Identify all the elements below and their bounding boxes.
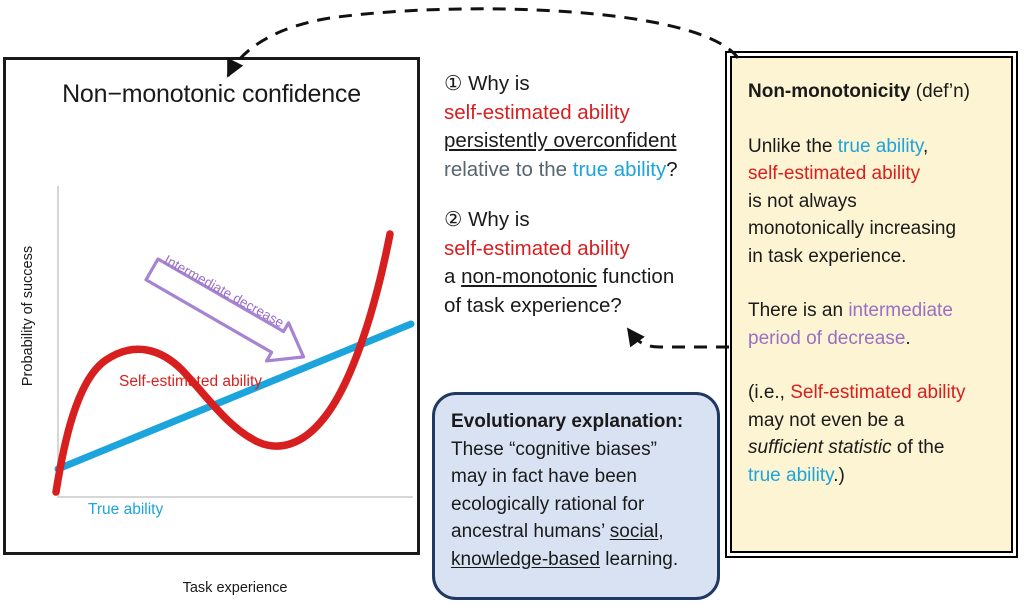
text-line-4: monotonically increasing	[748, 215, 999, 243]
text-run: .)	[833, 465, 845, 486]
text-run: ?	[666, 158, 677, 181]
text-run: There is an	[748, 300, 848, 321]
text-run: knowledge-based	[451, 549, 600, 570]
definition-box: Non-monotonicity (def’n) Unlike the true…	[730, 56, 1013, 553]
text-line-4: of task experience?	[444, 292, 719, 321]
text-run: ② Why is	[444, 208, 530, 231]
chart-panel: Non−monotonic confidence Probability of …	[3, 57, 420, 555]
text-line-3: a non-monotonic function	[444, 263, 719, 292]
definition-heading: Non-monotonicity (def’n)	[748, 78, 999, 106]
text-line-2: self-estimated ability	[444, 99, 719, 128]
evolutionary-body: These “cognitive biases”may in fact have…	[451, 436, 703, 574]
text-line-4: true ability.)	[748, 462, 999, 490]
text-run: ancestral humans’	[451, 521, 610, 542]
text-run: ① Why is	[444, 72, 530, 95]
text-line-1: These “cognitive biases”	[451, 436, 703, 464]
text-run: self-estimated ability	[748, 163, 920, 184]
text-run: These “cognitive biases”	[451, 439, 657, 460]
text-run: Unlike the	[748, 136, 838, 157]
text-run: relative to the	[444, 158, 573, 181]
definition-paragraph-1: Unlike the true ability,self-estimated a…	[748, 133, 999, 271]
question-1: ① Why isself-estimated abilitypersistent…	[444, 70, 719, 184]
definition-heading-term: Non-monotonicity	[748, 81, 911, 102]
text-line-3: ecologically rational for	[451, 491, 703, 519]
text-line-1: There is an intermediate	[748, 297, 999, 325]
text-run: true ability	[838, 136, 923, 157]
text-run: ,	[658, 521, 663, 542]
x-axis-label: Task experience	[57, 580, 413, 596]
text-line-4: ancestral humans’ social,	[451, 518, 703, 546]
text-line-5: in task experience.	[748, 243, 999, 271]
text-line-5: knowledge-based learning.	[451, 546, 703, 574]
text-run: may not even be a	[748, 410, 904, 431]
definition-spacer-3	[748, 352, 999, 379]
text-run: ,	[923, 136, 928, 157]
text-line-3: sufficient statistic of the	[748, 434, 999, 462]
text-line-2: period of decrease.	[748, 325, 999, 353]
questions-column: ① Why isself-estimated abilitypersistent…	[444, 70, 719, 342]
text-line-2: may not even be a	[748, 407, 999, 435]
text-run: true ability	[573, 158, 666, 181]
text-run: true ability	[748, 465, 833, 486]
text-line-2: may in fact have been	[451, 463, 703, 491]
text-run: function	[597, 265, 675, 288]
text-run: is not always	[748, 191, 857, 212]
text-run: self-estimated ability	[444, 237, 630, 260]
text-run: monotonically increasing	[748, 218, 956, 239]
text-run: self-estimated ability	[444, 101, 630, 124]
definition-paragraph-3: (i.e., Self-estimated abilitymay not eve…	[748, 379, 999, 489]
text-line-4: relative to the true ability?	[444, 156, 719, 185]
text-run: learning.	[600, 549, 678, 570]
text-run: sufficient statistic	[748, 437, 892, 458]
text-line-2: self-estimated ability	[444, 235, 719, 264]
text-run: .	[905, 328, 910, 349]
definition-paragraph-2: There is an intermediateperiod of decrea…	[748, 297, 999, 352]
self-estimated-ability-curve	[56, 234, 390, 492]
definition-spacer-1	[748, 106, 999, 133]
text-run: of the	[892, 437, 945, 458]
text-run: non-monotonic	[461, 265, 597, 288]
text-line-3: is not always	[748, 188, 999, 216]
text-run: persistently overconfident	[444, 129, 676, 152]
text-line-1: Unlike the true ability,	[748, 133, 999, 161]
text-line-1: ① Why is	[444, 70, 719, 99]
text-run: period of decrease	[748, 328, 905, 349]
text-line-3: persistently overconfident	[444, 127, 719, 156]
text-line-1: ② Why is	[444, 206, 719, 235]
text-run: social	[610, 521, 659, 542]
text-run: a	[444, 265, 461, 288]
series-label-self-estimated-ability: Self-estimated ability	[119, 373, 262, 391]
definition-heading-suffix: (def’n)	[911, 81, 970, 102]
evolutionary-explanation-box: Evolutionary explanation: These “cogniti…	[432, 392, 720, 600]
definition-spacer-2	[748, 270, 999, 297]
text-run: in task experience.	[748, 246, 906, 267]
text-line-1: (i.e., Self-estimated ability	[748, 379, 999, 407]
text-run: ecologically rational for	[451, 494, 644, 515]
text-run: Self-estimated ability	[790, 382, 965, 403]
figure-canvas: Non−monotonic confidence Probability of …	[0, 0, 1024, 616]
question-2: ② Why isself-estimated abilitya non-mono…	[444, 206, 719, 320]
chart-curves	[6, 60, 423, 558]
text-run: may in fact have been	[451, 466, 637, 487]
text-run: of task experience?	[444, 294, 622, 317]
series-label-true-ability: True ability	[88, 501, 163, 519]
evolutionary-heading: Evolutionary explanation:	[451, 408, 703, 436]
text-run: (i.e.,	[748, 382, 790, 403]
text-run: intermediate	[848, 300, 953, 321]
text-line-2: self-estimated ability	[748, 160, 999, 188]
